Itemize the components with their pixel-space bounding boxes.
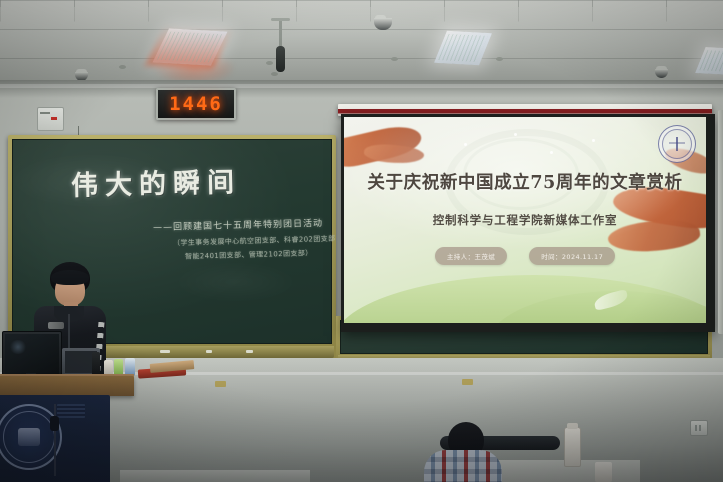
slide-subtitle: 控制科学与工程学院新媒体工作室: [344, 212, 706, 228]
desk-paper-cup: [595, 462, 612, 482]
blackboard-title: 伟大的瞬间: [71, 160, 242, 203]
wall-digital-clock: 1446: [156, 88, 236, 120]
projected-slide: 关于庆祝新中国成立75周年的文章赏析 控制科学与工程学院新媒体工作室 主持人：王…: [344, 117, 706, 323]
podium-desk: [0, 376, 134, 396]
audience-desk-front-left: [120, 470, 310, 482]
projection-screen-rail: [718, 110, 723, 334]
ceiling-shading: [0, 0, 723, 86]
lecture-hall-photo: 1446 伟大的瞬间 ——回顾建国七十五周年特别团日活动 （学生事务发展中心航空…: [0, 0, 723, 482]
podium-dark-bottle: [92, 352, 100, 376]
host-badge: 主持人：王茂斌: [435, 247, 507, 265]
wall-power-outlet: [690, 420, 708, 436]
podium-vent: [57, 404, 85, 418]
presenter-jacket-logo: [48, 322, 64, 329]
clock-time-display: 1446: [169, 93, 223, 115]
slide-badge-row: 主持人：王茂斌 时间：2024.11.17: [344, 247, 706, 265]
wall-hook-1: [215, 381, 226, 387]
wall-hook-2: [462, 379, 473, 385]
podium-monitor: [2, 331, 62, 377]
date-badge: 时间：2024.11.17: [529, 247, 615, 265]
presenter-fringe: [51, 270, 89, 285]
slide-title: 关于庆祝新中国成立75周年的文章赏析: [344, 169, 706, 194]
microphone-stand: [54, 404, 56, 476]
desk-thermos: [564, 427, 581, 467]
wall-trim: [0, 84, 723, 88]
audience-plaid-shirt: [424, 450, 502, 482]
microphone-head: [50, 416, 59, 431]
ceiling: [0, 0, 723, 86]
wall-top-shadow: [0, 80, 723, 98]
university-seal-logo-icon: [658, 125, 696, 163]
